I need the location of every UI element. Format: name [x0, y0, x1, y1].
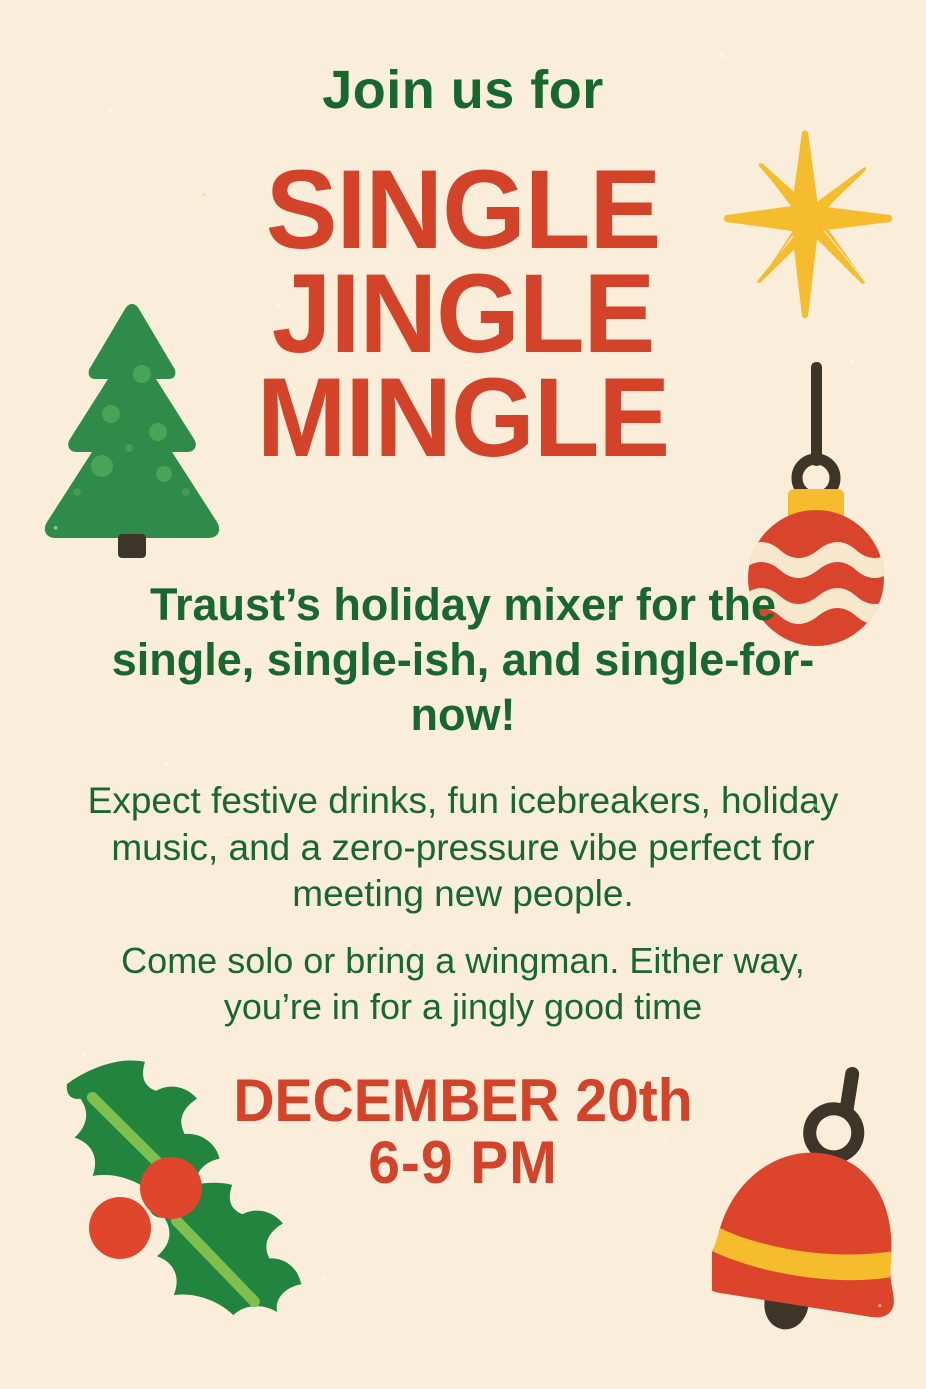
poster-paragraph-1: Expect festive drinks, fun icebreakers, … [0, 778, 926, 918]
event-date: DECEMBER 20th [23, 1070, 903, 1132]
title-line-2: JINGLE [19, 262, 908, 366]
title-line-1: SINGLE [19, 158, 908, 262]
eyebrow-text: Join us for [0, 62, 926, 119]
title-line-3: MINGLE [19, 366, 908, 470]
poster-paragraph-2: Come solo or bring a wingman. Either way… [0, 938, 926, 1030]
poster-subtitle: Traust’s holiday mixer for the single, s… [0, 578, 926, 743]
holiday-event-poster: Join us for SINGLE JINGLE MINGLE Traust’… [0, 0, 926, 1389]
poster-title: SINGLE JINGLE MINGLE [0, 158, 926, 470]
event-datetime: DECEMBER 20th 6-9 PM [0, 1070, 926, 1195]
event-time: 6-9 PM [23, 1132, 903, 1194]
